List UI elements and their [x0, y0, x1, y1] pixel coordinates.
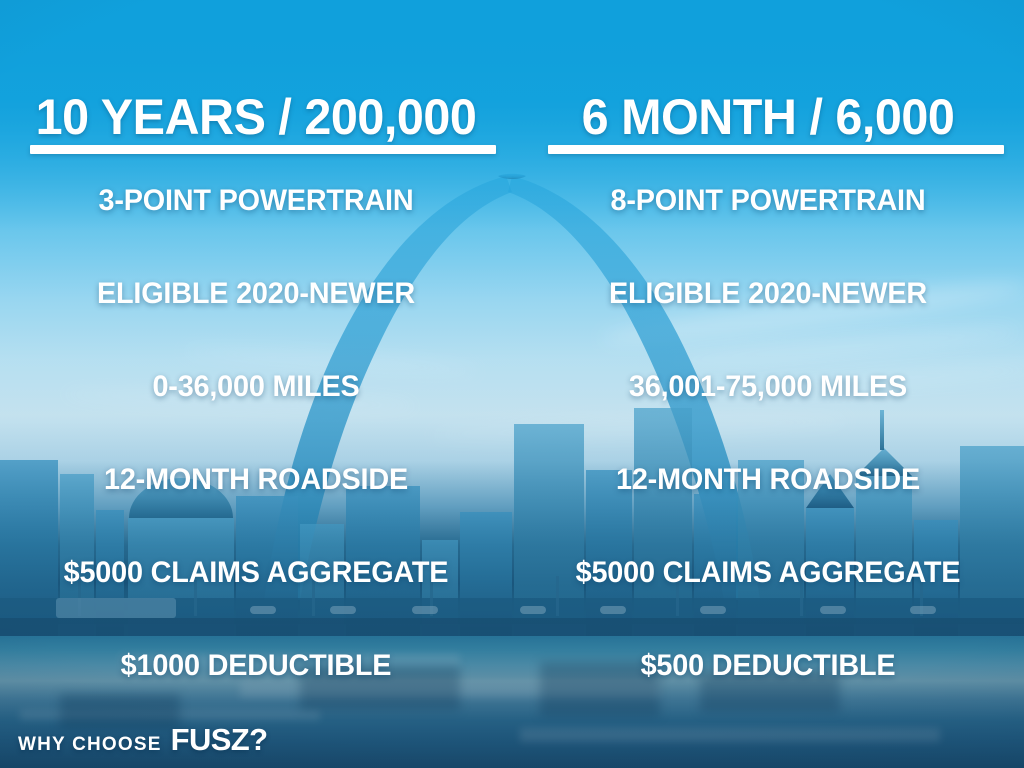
coverage-comparison: 10 YEARS / 200,000 3-POINT POWERTRAIN EL… — [0, 0, 1024, 710]
column-heading-right: 6 MONTH / 6,000 — [520, 92, 1017, 142]
feature-list-right: 8-POINT POWERTRAIN ELIGIBLE 2020-NEWER 3… — [512, 186, 1024, 744]
feature-item: 12-MONTH ROADSIDE — [522, 465, 1014, 558]
feature-item: 36,001-75,000 MILES — [522, 372, 1014, 465]
feature-item: 0-36,000 MILES — [10, 372, 502, 465]
brand-lockup: WHY CHOOSE FUSZ? — [18, 722, 267, 758]
promo-graphic: 10 YEARS / 200,000 3-POINT POWERTRAIN EL… — [0, 0, 1024, 768]
feature-item: ELIGIBLE 2020-NEWER — [522, 279, 1014, 372]
feature-item: $5000 CLAIMS AGGREGATE — [10, 558, 502, 651]
brand-name: FUSZ? — [171, 722, 268, 758]
column-heading-left: 10 YEARS / 200,000 — [8, 92, 505, 142]
column-heading-underline-left — [30, 145, 496, 154]
brand-tagline: WHY CHOOSE — [18, 734, 162, 756]
feature-item: 3-POINT POWERTRAIN — [10, 186, 502, 279]
feature-item: 12-MONTH ROADSIDE — [10, 465, 502, 558]
feature-item: 8-POINT POWERTRAIN — [522, 186, 1014, 279]
feature-list-left: 3-POINT POWERTRAIN ELIGIBLE 2020-NEWER 0… — [0, 186, 512, 744]
coverage-column-left: 10 YEARS / 200,000 3-POINT POWERTRAIN EL… — [0, 0, 512, 710]
column-heading-underline-right — [548, 145, 1004, 154]
coverage-column-right: 6 MONTH / 6,000 8-POINT POWERTRAIN ELIGI… — [512, 0, 1024, 710]
feature-item: ELIGIBLE 2020-NEWER — [10, 279, 502, 372]
feature-item: $5000 CLAIMS AGGREGATE — [522, 558, 1014, 651]
feature-item: $500 DEDUCTIBLE — [522, 651, 1014, 744]
